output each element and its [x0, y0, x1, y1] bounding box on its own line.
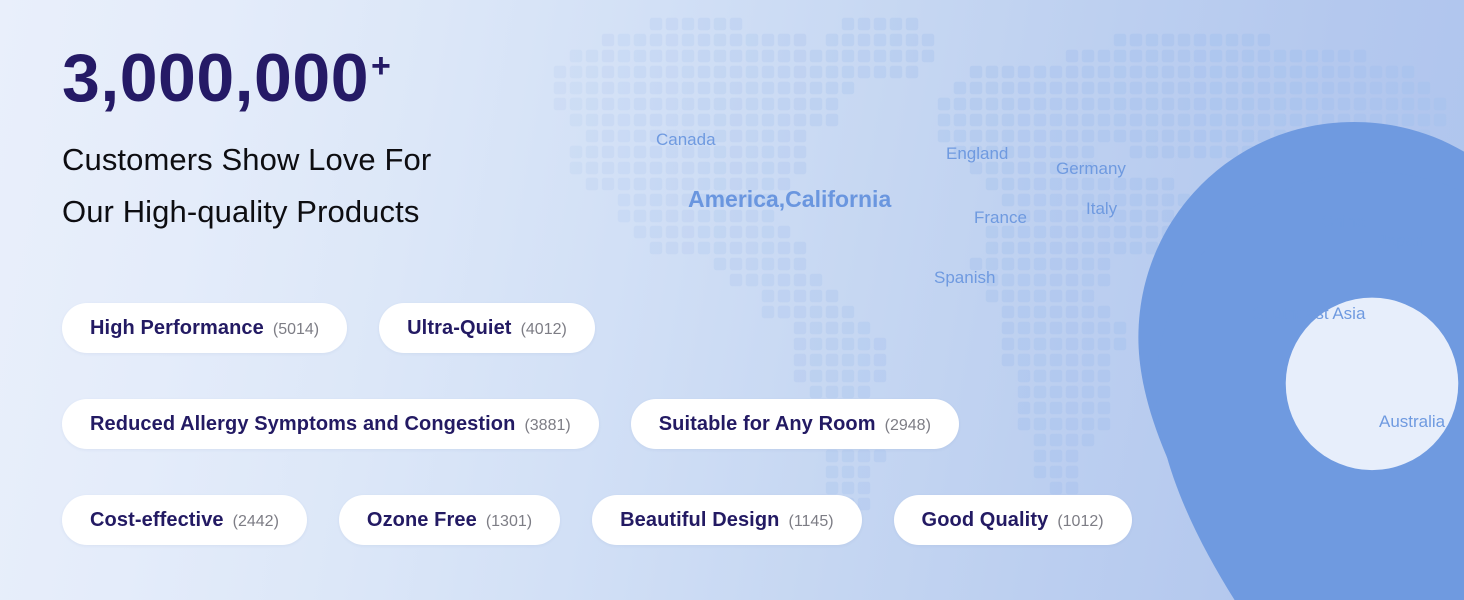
feature-tag-label: Beautiful Design: [620, 495, 779, 545]
map-location-label: Australia: [1379, 412, 1445, 432]
feature-tag-count: (4012): [521, 305, 567, 355]
headline-block: 3,000,000+ Customers Show Love For Our H…: [62, 44, 702, 238]
feature-tag-row: Reduced Allergy Symptoms and Congestion(…: [62, 399, 1242, 449]
feature-tag-label: High Performance: [90, 303, 264, 353]
feature-tag[interactable]: Reduced Allergy Symptoms and Congestion(…: [62, 399, 599, 449]
feature-tag-count: (3881): [524, 401, 570, 451]
feature-tag-label: Ozone Free: [367, 495, 477, 545]
map-location-label: Germany: [1056, 159, 1126, 179]
feature-tag[interactable]: Ozone Free(1301): [339, 495, 560, 545]
feature-tag-count: (2442): [233, 497, 279, 547]
feature-tag[interactable]: Beautiful Design(1145): [592, 495, 861, 545]
map-location-label: Italy: [1086, 199, 1117, 219]
feature-tag[interactable]: Good Quality(1012): [894, 495, 1132, 545]
feature-tag-count: (1145): [788, 497, 833, 547]
map-location-label: Spanish: [934, 268, 995, 288]
page-subtitle: Customers Show Love For Our High-quality…: [62, 134, 702, 238]
promo-banner: 3,000,000+ Customers Show Love For Our H…: [0, 0, 1464, 600]
customer-count-value: 3,000,000: [62, 40, 369, 116]
subtitle-line-1: Customers Show Love For: [62, 134, 702, 186]
feature-tag-count: (1301): [486, 497, 532, 547]
feature-tag-count: (1012): [1057, 497, 1103, 547]
map-location-label: Southeast Asia: [1252, 304, 1365, 324]
feature-tag[interactable]: Ultra-Quiet(4012): [379, 303, 595, 353]
feature-tag-count: (5014): [273, 305, 319, 355]
feature-tag-list: High Performance(5014)Ultra-Quiet(4012)R…: [62, 303, 1242, 545]
feature-tag-row: Cost-effective(2442)Ozone Free(1301)Beau…: [62, 495, 1242, 545]
feature-tag[interactable]: Cost-effective(2442): [62, 495, 307, 545]
customer-count-heading: 3,000,000+: [62, 44, 702, 112]
map-location-label: America,California: [688, 186, 891, 213]
feature-tag-row: High Performance(5014)Ultra-Quiet(4012): [62, 303, 1242, 353]
feature-tag-label: Cost-effective: [90, 495, 224, 545]
map-location-label: France: [974, 208, 1027, 228]
feature-tag-label: Suitable for Any Room: [659, 399, 876, 449]
map-location-label: England: [946, 144, 1008, 164]
plus-symbol: +: [371, 47, 391, 85]
feature-tag-count: (2948): [885, 401, 931, 451]
feature-tag-label: Good Quality: [922, 495, 1049, 545]
feature-tag[interactable]: High Performance(5014): [62, 303, 347, 353]
feature-tag-label: Reduced Allergy Symptoms and Congestion: [90, 399, 515, 449]
map-location-label: Japan: [1378, 231, 1424, 251]
map-location-label: China: [1321, 212, 1365, 232]
feature-tag[interactable]: Suitable for Any Room(2948): [631, 399, 959, 449]
feature-tag-label: Ultra-Quiet: [407, 303, 511, 353]
subtitle-line-2: Our High-quality Products: [62, 186, 702, 238]
